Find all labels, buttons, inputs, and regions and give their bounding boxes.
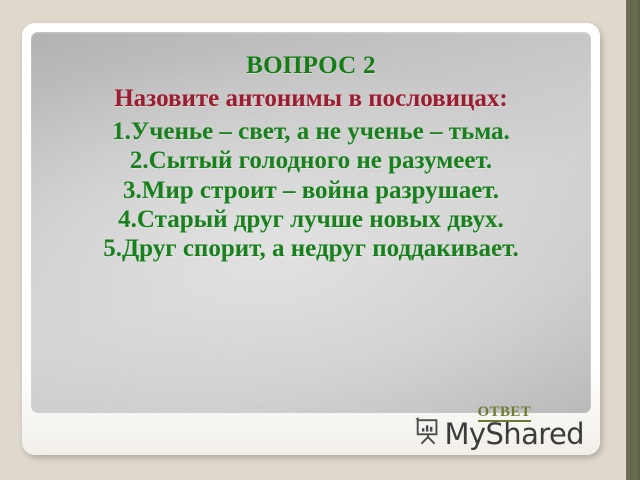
list-item: 3.Мир строит – война разрушает. xyxy=(31,176,591,205)
slide-root: ВОПРОС 2 Назовите антонимы в пословицах:… xyxy=(0,0,640,480)
slide-card: ВОПРОС 2 Назовите антонимы в пословицах:… xyxy=(22,23,600,455)
page-title: ВОПРОС 2 xyxy=(31,52,591,80)
myshared-wordmark: MyShared ОТВЕТ xyxy=(445,419,584,449)
myshared-watermark: MyShared ОТВЕТ xyxy=(413,409,584,449)
slide-subtitle: Назовите антонимы в пословицах: xyxy=(31,85,591,113)
list-item: 1.Ученье – свет, а не ученье – тьма. xyxy=(31,117,591,146)
page-edge-strip xyxy=(626,0,640,480)
proverb-list: 1.Ученье – свет, а не ученье – тьма. 2.С… xyxy=(31,117,591,263)
presentation-easel-icon xyxy=(413,416,443,446)
slide-text-block: ВОПРОС 2 Назовите антонимы в пословицах:… xyxy=(31,52,591,263)
slide-content-panel: ВОПРОС 2 Назовите антонимы в пословицах:… xyxy=(31,32,591,413)
list-item: 4.Старый друг лучше новых двух. xyxy=(31,205,591,234)
list-item: 2.Сытый голодного не разумеет. xyxy=(31,146,591,175)
answer-link[interactable]: ОТВЕТ xyxy=(478,405,532,422)
myshared-text: MyShared xyxy=(445,417,584,451)
list-item: 5.Друг спорит, а недруг поддакивает. xyxy=(31,234,591,263)
